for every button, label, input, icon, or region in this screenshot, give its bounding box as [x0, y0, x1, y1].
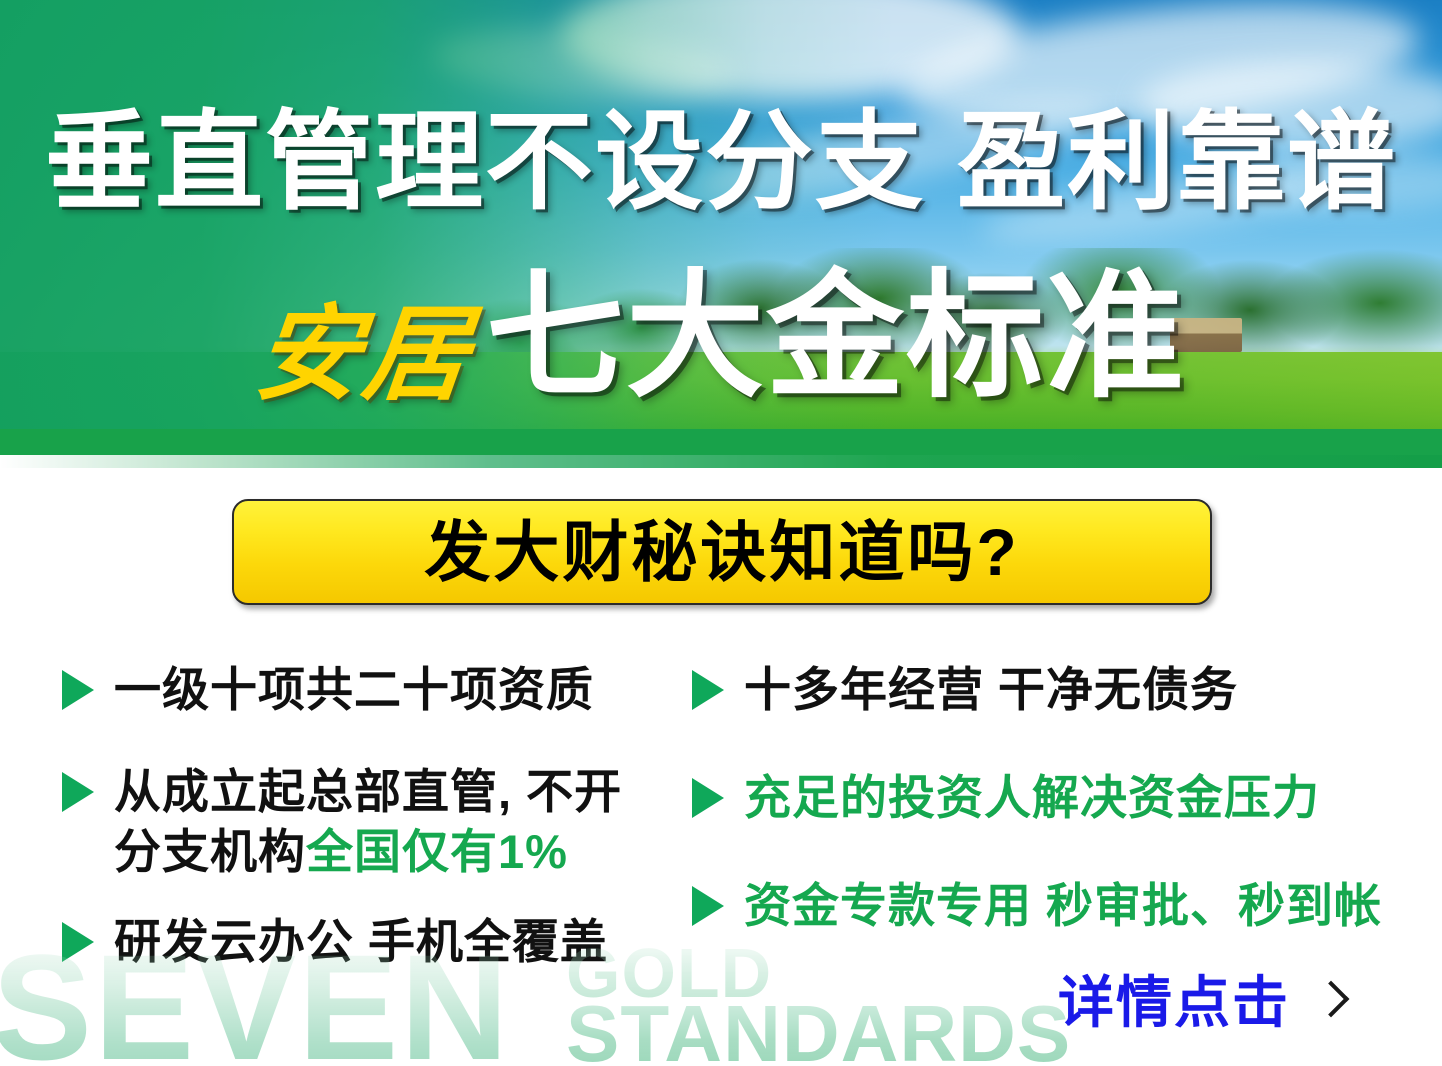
- feature-item: 充足的投资人解决资金压力: [692, 768, 1412, 828]
- feature-item: 资金专款专用 秒审批、秒到帐: [692, 876, 1412, 936]
- question-banner-text: 发大财秘诀知道吗?: [424, 519, 1019, 585]
- feature-item: 研发云办公 手机全覆盖: [62, 912, 682, 972]
- triangle-bullet-icon: [62, 772, 94, 812]
- feature-item: 十多年经营 干净无债务: [692, 660, 1412, 720]
- feature-item: 一级十项共二十项资质: [62, 660, 682, 720]
- triangle-bullet-icon: [62, 670, 94, 710]
- feature-text: 充足的投资人解决资金压力: [744, 768, 1320, 828]
- features-left-column: 一级十项共二十项资质 从成立起总部直管, 不开 分支机构全国仅有1% 研发云办公…: [62, 660, 682, 1007]
- feature-item: 从成立起总部直管, 不开 分支机构全国仅有1%: [62, 762, 682, 882]
- feature-text-line1: 从成立起总部直管, 不开: [114, 765, 622, 818]
- feature-text-line2-highlight: 全国仅有1%: [306, 825, 568, 878]
- brand-word: 安居: [251, 303, 478, 407]
- feature-text: 资金专款专用 秒审批、秒到帐: [744, 876, 1382, 936]
- triangle-bullet-icon: [692, 670, 724, 710]
- question-banner[interactable]: 发大财秘诀知道吗?: [232, 499, 1212, 605]
- subline-main: 七大金标准: [486, 268, 1186, 406]
- hero-headline: 垂直管理不设分支 盈利靠谱: [0, 108, 1442, 216]
- hero-bottom-band: [0, 429, 1442, 455]
- feature-text-line2-black: 分支机构: [114, 825, 306, 878]
- feature-text: 从成立起总部直管, 不开 分支机构全国仅有1%: [114, 762, 622, 882]
- details-cta-label: 详情点击: [1058, 975, 1290, 1031]
- promo-banner-page: 垂直管理不设分支 盈利靠谱 安居七大金标准 发大财秘诀知道吗? 一级十项共二十项…: [0, 0, 1442, 1066]
- chevron-right-icon: [1316, 980, 1342, 1026]
- features-right-column: 十多年经营 干净无债务 充足的投资人解决资金压力 资金专款专用 秒审批、秒到帐: [692, 660, 1412, 970]
- triangle-bullet-icon: [692, 778, 724, 818]
- feature-text: 研发云办公 手机全覆盖: [114, 912, 608, 972]
- hero-subline: 安居七大金标准: [0, 268, 1442, 407]
- details-cta-button[interactable]: 详情点击: [1058, 975, 1342, 1031]
- triangle-bullet-icon: [62, 922, 94, 962]
- features-section: 一级十项共二十项资质 从成立起总部直管, 不开 分支机构全国仅有1% 研发云办公…: [0, 660, 1442, 990]
- feature-text: 十多年经营 干净无债务: [744, 660, 1238, 720]
- feature-text: 一级十项共二十项资质: [114, 660, 594, 720]
- hero-underline-strip: [0, 455, 1442, 468]
- triangle-bullet-icon: [692, 886, 724, 926]
- hero-section: 垂直管理不设分支 盈利靠谱 安居七大金标准: [0, 0, 1442, 455]
